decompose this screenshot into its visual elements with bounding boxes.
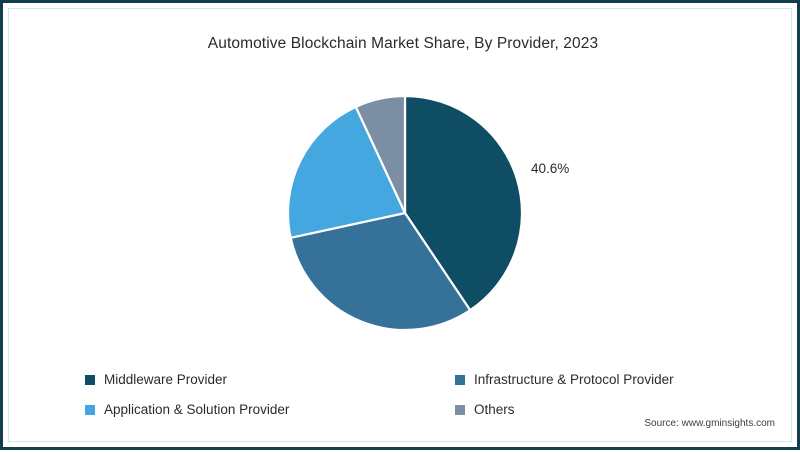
- legend-item-infrastructure-protocol-provider[interactable]: Infrastructure & Protocol Provider: [455, 373, 725, 387]
- legend-item-others[interactable]: Others: [455, 403, 725, 417]
- legend-item-application-solution-provider[interactable]: Application & Solution Provider: [85, 403, 455, 417]
- source-attribution: Source: www.gminsights.com: [644, 418, 775, 429]
- legend-item-label: Others: [474, 403, 515, 417]
- slice-percent-label-middleware: 40.6%: [531, 161, 569, 176]
- chart-figure: Automotive Blockchain Market Share, By P…: [0, 0, 800, 450]
- pie-slices: [288, 96, 522, 330]
- legend-swatch-icon: [85, 405, 95, 415]
- legend-swatch-icon: [455, 405, 465, 415]
- chart-legend: Middleware Provider Infrastructure & Pro…: [85, 365, 725, 425]
- legend-item-label: Middleware Provider: [104, 373, 227, 387]
- legend-item-label: Infrastructure & Protocol Provider: [474, 373, 674, 387]
- legend-swatch-icon: [85, 375, 95, 385]
- legend-item-middleware-provider[interactable]: Middleware Provider: [85, 373, 455, 387]
- legend-item-label: Application & Solution Provider: [104, 403, 289, 417]
- legend-swatch-icon: [455, 375, 465, 385]
